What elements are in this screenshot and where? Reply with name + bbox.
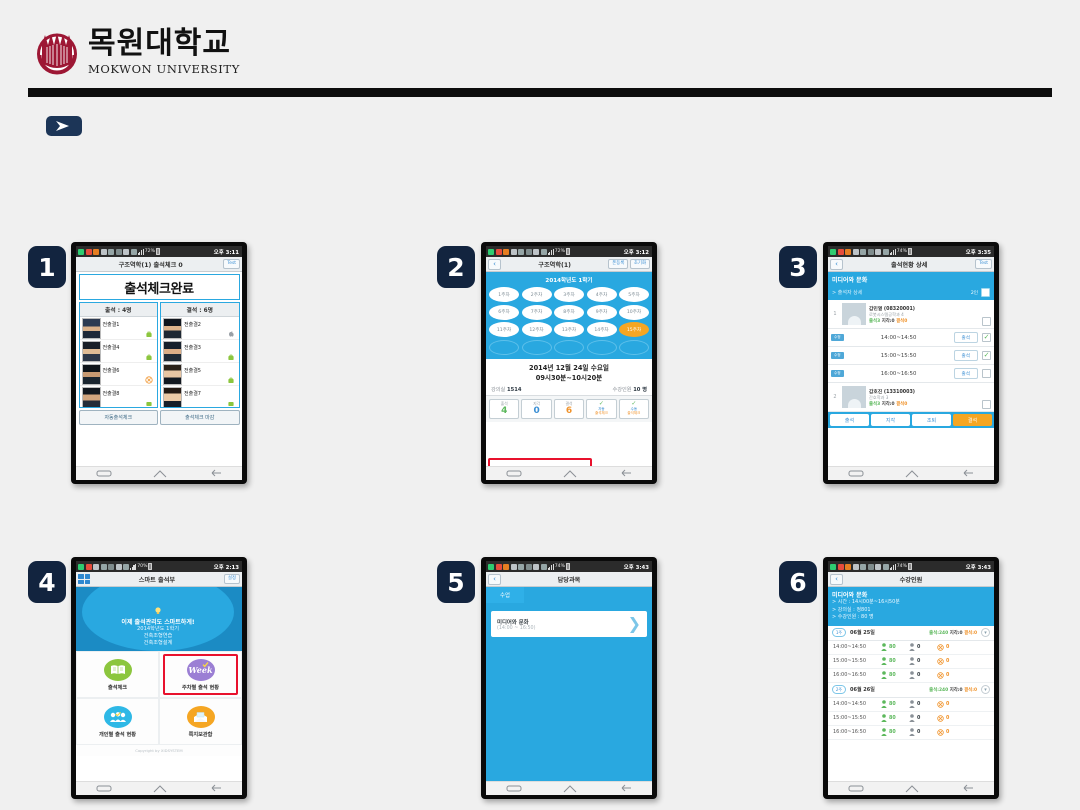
week-chip-empty (489, 340, 519, 355)
avatar (163, 341, 182, 362)
person-late-icon (909, 671, 915, 679)
student-row[interactable]: 전출결5 (161, 363, 239, 386)
present-cell: 80 (881, 700, 909, 708)
clock: 오후 3:43 (624, 563, 650, 571)
week-summary: 출석:240 지각:0 결석:0 (929, 630, 977, 636)
cancel-icon (145, 376, 153, 384)
arrow-right-icon (46, 116, 82, 136)
settings-button[interactable]: 설정 (224, 574, 240, 583)
logo-korean-name: 목원대학교 (88, 28, 240, 60)
android-icon (145, 330, 153, 338)
phone6-body: 미디어와 문화 > 시간 : 14시00분~16시50분 > 강의실 : 정80… (828, 587, 994, 781)
student-checkbox[interactable] (982, 317, 991, 326)
battery-percent: 74% (555, 564, 565, 569)
stat-value: 6 (555, 407, 583, 417)
title-bar: 구조역학(1) 출석체크 0 Test (76, 257, 242, 272)
manual-check-button[interactable]: ✓ 수동 출석체크 (619, 399, 649, 420)
apple-icon (227, 330, 235, 338)
status-icons (830, 564, 889, 570)
attendance-slot-row[interactable]: 수정 14:00~14:50 출석 ✓ (828, 329, 994, 347)
title-bar: ‹ 출석현황 상세 Test (828, 257, 994, 272)
battery-percent: 70% (137, 564, 147, 569)
phone-screenshot-6: 74% 오후 3:43 ‹ 수강인원 미디어와 문화 > 시간 : 14시00분… (823, 557, 999, 799)
course-enroll-info: > 수강인원 : 80 명 (832, 614, 990, 622)
mark-absent-button[interactable]: 결석 (953, 414, 992, 426)
clock: 오후 3:12 (624, 248, 650, 256)
select-all-checkbox[interactable] (981, 288, 990, 297)
slot-row: 14:00~14:50 80 0 0 (828, 641, 994, 655)
step-badge-3: 3 (779, 246, 817, 288)
slot-time: 16:00~16:50 (833, 672, 881, 678)
semester-label: 2014학년도 1학기 (486, 274, 652, 287)
week-summary: 출석:240 지각:0 결석:0 (929, 687, 977, 693)
student-index: 1 (831, 311, 839, 317)
chevron-down-icon[interactable]: ▾ (981, 628, 990, 637)
week-date: 06월 25일 (850, 629, 875, 636)
signal-icon (890, 248, 896, 255)
title-bar: 스마트 출석부 설정 (76, 572, 242, 587)
test-button[interactable]: Test (975, 259, 992, 268)
signal-icon (890, 563, 896, 570)
recents-icon[interactable] (96, 784, 112, 793)
chevron-down-icon[interactable]: ▾ (981, 685, 990, 694)
avatar (82, 387, 101, 408)
week-chip[interactable]: 12주차 (522, 322, 552, 337)
week-chip[interactable]: 14주차 (587, 322, 617, 337)
student-name: 전출결2 (184, 318, 201, 328)
week-chip-empty (554, 340, 584, 355)
signal-icon (548, 563, 554, 570)
enroll-value: 10 명 (633, 387, 647, 393)
android-icon (227, 353, 235, 361)
attendance-slot-row[interactable]: 수정 16:00~16:50 출석 (828, 365, 994, 383)
enroll-label: 수강인원 10 명 (612, 386, 647, 393)
home-icon[interactable] (563, 784, 577, 793)
student-name: 전출결5 (184, 364, 201, 374)
chevron-right-icon[interactable]: ❯ (628, 616, 641, 632)
stat-late[interactable]: 지각 0 (521, 399, 551, 420)
slot-status[interactable]: 출석 (954, 368, 978, 379)
clock: 오후 3:43 (966, 563, 992, 571)
student-name: 전출결3 (184, 341, 201, 351)
mark-late-button[interactable]: 지각 (871, 414, 910, 426)
clock: 오후 3:11 (214, 248, 240, 256)
section-header: > 출석자 상세 2인 (828, 286, 994, 300)
register-phone-button[interactable]: 폰등록 (608, 259, 628, 268)
android-icon (145, 399, 153, 407)
reset-button[interactable]: 초기화 (630, 259, 650, 268)
person-present-icon (881, 728, 887, 736)
phone1-body: 출석체크완료 출석 : 4명 전출결1 (76, 272, 242, 466)
status-bar: 72% 오후 3:11 (76, 246, 242, 257)
week-chip[interactable]: 10주차 (619, 305, 649, 320)
phone-screenshot-2: 72% 오후 3:12 ‹ 구조역학(1) 폰등록 초기화 2014학년도 1학… (481, 242, 657, 484)
student-row[interactable]: 전출결8 (80, 386, 158, 408)
back-icon[interactable] (960, 469, 974, 478)
menu-item-mailbox[interactable]: 쪽지보관함 (159, 698, 242, 745)
present-column: 출석 : 4명 전출결1 전출결4 (79, 302, 159, 408)
step-badge-5: 5 (437, 561, 475, 603)
late-cell: 0 (909, 671, 937, 679)
android-icon (227, 399, 235, 407)
present-cell: 80 (881, 657, 909, 665)
edit-tag[interactable]: 수정 (831, 352, 844, 359)
week-chip[interactable]: 1주차 (489, 287, 519, 302)
recents-icon[interactable] (848, 784, 864, 793)
student-index: 2 (831, 394, 839, 400)
absent-header: 결석 : 6명 (161, 303, 239, 317)
week-chip[interactable]: 2주차 (522, 287, 552, 302)
edit-tag[interactable]: 수정 (831, 334, 844, 341)
phone3-body: 미디어와 문화 > 출석자 상세 2인 1 갑민열 (08320001) 로 (828, 272, 994, 466)
copyright-text: Copyright by XIDSYSTEM (76, 745, 242, 756)
university-logo: 목원대학교 MOKWON UNIVERSITY (36, 28, 240, 76)
step-badge-6: 6 (779, 561, 817, 603)
week-number: 1주 (832, 628, 846, 637)
people-icon (104, 706, 132, 728)
class-date: 2014년 12월 24일 수요일 (486, 362, 652, 372)
battery-icon (566, 248, 570, 255)
menu-label: 주차별 출석 현황 (182, 684, 219, 691)
late-cell: 0 (909, 700, 937, 708)
auto-check-button[interactable]: ✓ 자동 출석체크 (586, 399, 616, 420)
phone1-footer-buttons: 자동출석체크 출석체크 마감 (76, 408, 242, 427)
week-chip[interactable]: 6주차 (489, 305, 519, 320)
phone-screenshot-4: 70% 오후 2:13 스마트 출석부 설정 이제 출석관리도 스마트하게! 2… (71, 557, 247, 799)
week-chip[interactable]: 4주차 (587, 287, 617, 302)
back-button[interactable]: ‹ (830, 259, 843, 270)
week-chip[interactable]: 8주차 (554, 305, 584, 320)
back-icon[interactable] (618, 784, 632, 793)
phone-screenshot-5: 74% 오후 3:43 ‹ 담당과목 수업 미디어와 문화 (14:00 ~ 1… (481, 557, 657, 799)
status-icons (488, 249, 547, 255)
student-row[interactable]: 전출결6 (80, 363, 158, 386)
battery-percent: 74% (897, 564, 907, 569)
week-chip[interactable]: 9주차 (587, 305, 617, 320)
student-name: 전출결6 (103, 364, 120, 374)
status-icons (78, 564, 129, 570)
week-chip[interactable]: 13주차 (554, 322, 584, 337)
phone5-body: 수업 미디어와 문화 (14:00 ~ 16:50) ❯ (486, 587, 652, 781)
mailbox-icon (187, 706, 215, 728)
mokwon-crest-icon (36, 29, 78, 75)
status-bar: 70% 오후 2:13 (76, 561, 242, 572)
person-late-icon (909, 657, 915, 665)
present-cell: 80 (881, 728, 909, 736)
signal-icon (130, 563, 136, 570)
back-button[interactable]: ‹ (830, 574, 843, 585)
avatar (82, 364, 101, 385)
room-label: 강의실 1514 (491, 386, 521, 393)
student-name: 갑민열 (08320001) (869, 305, 915, 312)
recents-icon[interactable] (506, 469, 522, 478)
person-present-icon (881, 671, 887, 679)
late-cell: 0 (909, 728, 937, 736)
course-title: 미디어와 문화 (497, 618, 535, 626)
slot-time: 15:00~15:50 (833, 658, 881, 664)
week-date: 06월 26일 (850, 686, 875, 693)
week-chip-selected[interactable]: 15주차 (619, 322, 649, 337)
slot-checkbox-checked[interactable]: ✓ (982, 351, 991, 360)
status-bar: 74% 오후 3:43 (486, 561, 652, 572)
menu-item-individual-status[interactable]: 개인별 출석 현황 (76, 698, 159, 745)
present-header: 출석 : 4명 (80, 303, 158, 317)
menu-item-weekly-status[interactable]: Week 주차별 출석 현황 (159, 651, 242, 698)
android-nav-bar (486, 466, 652, 480)
student-name: 전출결7 (184, 387, 201, 397)
absent-cell: 0 (937, 701, 965, 708)
back-button[interactable]: ‹ (488, 259, 501, 270)
week-chip[interactable]: 3주차 (554, 287, 584, 302)
student-info: 갑호진 (13310003) 간호학과 3 출석3 지각:0 결석0 (869, 388, 915, 407)
course-name: 미디어와 문화 (828, 272, 994, 286)
page-title: 구조역학(1) (501, 260, 608, 269)
page-title: 출석현황 상세 (843, 260, 975, 269)
status-icons (488, 564, 547, 570)
week-summary-row[interactable]: 2주 06월 26일 출석:240 지각:0 결석:0 ▾ (828, 683, 994, 698)
student-row[interactable]: 전출결3 (161, 340, 239, 363)
android-nav-bar (828, 466, 994, 480)
back-icon[interactable] (618, 469, 632, 478)
check-icon (202, 661, 209, 668)
student-row[interactable]: 전출결7 (161, 386, 239, 408)
slot-row: 16:00~16:50 80 0 0 (828, 669, 994, 683)
absent-cell: 0 (937, 729, 965, 736)
signal-icon (138, 248, 144, 255)
battery-icon (148, 563, 152, 570)
avatar (82, 318, 101, 339)
recents-icon[interactable] (96, 469, 112, 478)
avatar (163, 364, 182, 385)
week-chip-empty (587, 340, 617, 355)
course-time-info: > 시간 : 14시00분~16시50분 (832, 599, 990, 607)
course-title: 미디어와 문화 (832, 590, 990, 599)
section-count: 2인 (971, 290, 978, 296)
week-selector-panel: 2014학년도 1학기 1주차 2주차 3주차 4주차 5주차 6주차 7주차 … (486, 272, 652, 359)
back-icon[interactable] (208, 784, 222, 793)
back-icon[interactable] (208, 469, 222, 478)
avatar (163, 387, 182, 408)
clock: 오후 2:13 (214, 563, 240, 571)
week-number: 2주 (832, 685, 846, 694)
page-header: 목원대학교 MOKWON UNIVERSITY (0, 0, 1080, 88)
battery-percent: 72% (145, 249, 155, 254)
attendance-slot-row[interactable]: 수정 15:00~15:50 출석 ✓ (828, 347, 994, 365)
completion-banner: 출석체크완료 (79, 274, 240, 300)
student-name: 갑호진 (13310003) (869, 388, 915, 395)
course-card-text: 미디어와 문화 (14:00 ~ 16:50) (497, 618, 535, 631)
avatar-placeholder-icon (842, 303, 866, 325)
hero-line2: 건축조형연습 (144, 633, 173, 640)
slot-row: 15:00~15:50 80 0 0 (828, 712, 994, 726)
absent-circle-icon (937, 672, 944, 679)
menu-item-attendance-check[interactable]: 출석체크 (76, 651, 159, 698)
home-icon[interactable] (905, 784, 919, 793)
absent-cell: 0 (937, 672, 965, 679)
late-cell: 0 (909, 657, 937, 665)
test-button[interactable]: Test (223, 259, 240, 268)
stat-present[interactable]: 출석 4 (489, 399, 519, 420)
stat-value: 4 (490, 407, 518, 417)
phone-screenshot-1: 72% 오후 3:11 구조역학(1) 출석체크 0 Test 출석체크완료 출… (71, 242, 247, 484)
late-cell: 0 (909, 643, 937, 651)
absent-cell: 0 (937, 658, 965, 665)
logo-english-name: MOKWON UNIVERSITY (88, 62, 240, 76)
class-meta: 강의실 1514 수강인원 10 명 (486, 384, 652, 396)
course-info-panel: 미디어와 문화 > 시간 : 14시00분~16시50분 > 강의실 : 정80… (828, 587, 994, 626)
hero-banner: 이제 출석관리도 스마트하게! 2014학년도 1학기 건축조형연습 건축조형설… (76, 587, 242, 651)
absent-cell: 0 (937, 715, 965, 722)
present-cell: 80 (881, 671, 909, 679)
avatar-placeholder-icon (842, 386, 866, 408)
student-stats: 출석3 지각:0 결석0 (869, 401, 915, 407)
class-date-block: 2014년 12월 24일 수요일 09시30분~10시20분 (486, 359, 652, 384)
slot-checkbox-checked[interactable]: ✓ (982, 333, 991, 342)
avatar (163, 318, 182, 339)
status-bar: 74% 오후 3:43 (828, 561, 994, 572)
completion-text: 출석체크완료 (124, 278, 193, 297)
status-icons (830, 249, 889, 255)
student-info: 갑민열 (08320001) 로봇시스템공학과 4 출석3 지각:0 결석0 (869, 305, 915, 324)
slot-time: 14:00~14:50 (833, 644, 881, 650)
android-icon (227, 376, 235, 384)
absent-circle-icon (937, 701, 944, 708)
slot-status[interactable]: 출석 (954, 350, 978, 361)
person-present-icon (881, 643, 887, 651)
person-late-icon (909, 728, 915, 736)
student-header-row[interactable]: 1 갑민열 (08320001) 로봇시스템공학과 4 출석3 지각:0 결석0 (828, 300, 994, 329)
home-icon[interactable] (905, 469, 919, 478)
home-icon[interactable] (153, 784, 167, 793)
battery-icon (908, 248, 912, 255)
title-bar: ‹ 수강인원 (828, 572, 994, 587)
tab-classes[interactable]: 수업 (486, 587, 524, 603)
recents-icon[interactable] (848, 469, 864, 478)
present-cell: 80 (881, 643, 909, 651)
slot-time: 14:00~14:50 (848, 335, 950, 341)
android-nav-bar (486, 781, 652, 795)
slot-time: 15:00~15:50 (833, 715, 881, 721)
student-checkbox[interactable] (982, 400, 991, 409)
lightbulb-icon (153, 606, 163, 616)
hero-line1: 2014학년도 1학기 (137, 626, 179, 633)
header-divider (28, 88, 1052, 97)
edit-tag[interactable]: 수정 (831, 370, 844, 377)
student-header-row[interactable]: 2 갑호진 (13310003) 간호학과 3 출석3 지각:0 결석0 (828, 383, 994, 412)
status-bar: 72% 오후 3:12 (486, 246, 652, 257)
absent-circle-icon (937, 715, 944, 722)
stat-absent[interactable]: 결석 6 (554, 399, 584, 420)
status-icons (78, 249, 137, 255)
absent-circle-icon (937, 729, 944, 736)
page-title: 담당과목 (501, 575, 637, 584)
course-room-info: > 강의실 : 정801 (832, 607, 990, 615)
slot-row: 15:00~15:50 80 0 0 (828, 655, 994, 669)
week-chip[interactable]: 7주차 (522, 305, 552, 320)
section-label: > 출석자 상세 (832, 289, 862, 296)
slot-row: 14:00~14:50 80 0 0 (828, 698, 994, 712)
battery-icon (566, 563, 570, 570)
person-present-icon (881, 714, 887, 722)
battery-percent: 72% (555, 249, 565, 254)
slot-row: 16:00~16:50 80 0 0 (828, 726, 994, 740)
student-name: 전출결8 (103, 387, 120, 397)
grid-menu-icon[interactable] (78, 574, 90, 584)
hero-ellipse: 이제 출석관리도 스마트하게! 2014학년도 1학기 건축조형연습 건축조형설… (82, 587, 234, 651)
close-attendance-button[interactable]: 출석체크 마감 (160, 410, 240, 425)
course-card[interactable]: 미디어와 문화 (14:00 ~ 16:50) ❯ (491, 611, 647, 637)
battery-icon (908, 563, 912, 570)
page-title: 스마트 출석부 (90, 575, 224, 584)
mark-present-button[interactable]: 출석 (830, 414, 869, 426)
auto-attendance-button[interactable]: 자동출석체크 (79, 410, 159, 425)
person-present-icon (881, 657, 887, 665)
book-icon (104, 659, 132, 681)
highlight-box-stats (488, 458, 592, 466)
slot-time: 16:00~16:50 (848, 371, 950, 377)
person-present-icon (881, 700, 887, 708)
back-icon[interactable] (960, 784, 974, 793)
week-chip[interactable]: 11주차 (489, 322, 519, 337)
week-chip-empty (619, 340, 649, 355)
home-icon[interactable] (563, 469, 577, 478)
week-chip[interactable]: 5주차 (619, 287, 649, 302)
mark-earlyleave-button[interactable]: 조퇴 (912, 414, 951, 426)
student-name: 전출결1 (103, 318, 120, 328)
slot-time: 16:00~16:50 (833, 729, 881, 735)
android-nav-bar (76, 466, 242, 480)
week-icon: Week (187, 659, 215, 681)
class-time: 09시30분~10시20분 (486, 372, 652, 382)
slot-checkbox[interactable] (982, 369, 991, 378)
android-icon (145, 353, 153, 361)
tab-bar: 수업 (486, 587, 652, 603)
battery-icon (156, 248, 160, 255)
hero-line3: 건축조형설계 (144, 640, 173, 647)
room-value: 1514 (507, 387, 521, 393)
stat-value: 0 (522, 407, 550, 417)
step-badge-2: 2 (437, 246, 475, 288)
student-detail-list: 1 갑민열 (08320001) 로봇시스템공학과 4 출석3 지각:0 결석0 (828, 300, 994, 412)
student-row[interactable]: 전출결4 (80, 340, 158, 363)
slot-status[interactable]: 출석 (954, 332, 978, 343)
slot-time: 15:00~15:50 (848, 353, 950, 359)
back-button[interactable]: ‹ (488, 574, 501, 585)
week-summary-row[interactable]: 1주 06월 25일 출석:240 지각:0 결석:0 ▾ (828, 626, 994, 641)
main-menu-grid: 출석체크 Week 주차별 출석 현황 개인별 (76, 651, 242, 745)
battery-percent: 74% (897, 249, 907, 254)
student-row[interactable]: 전출결2 (161, 317, 239, 340)
absent-cell: 0 (937, 644, 965, 651)
hero-headline: 이제 출석관리도 스마트하게! (121, 617, 194, 626)
recents-icon[interactable] (506, 784, 522, 793)
home-icon[interactable] (153, 469, 167, 478)
step-badge-1: 1 (28, 246, 66, 288)
status-bar: 74% 오후 3:35 (828, 246, 994, 257)
menu-label: 개인별 출석 현황 (99, 731, 136, 738)
absent-circle-icon (937, 658, 944, 665)
student-row[interactable]: 전출결1 (80, 317, 158, 340)
title-bar: ‹ 구조역학(1) 폰등록 초기화 (486, 257, 652, 272)
student-stats: 출석3 지각:0 결석0 (869, 318, 915, 324)
poster-page: 목원대학교 MOKWON UNIVERSITY 1 72% 오후 3:11 (0, 0, 1080, 810)
person-late-icon (909, 643, 915, 651)
phone-screenshot-3: 74% 오후 3:35 ‹ 출석현황 상세 Test 미디어와 문화 > 출석자… (823, 242, 999, 484)
present-cell: 80 (881, 714, 909, 722)
menu-label: 쪽지보관함 (189, 731, 213, 738)
status-action-bar: 출석 지각 조퇴 결석 (828, 412, 994, 428)
avatar (82, 341, 101, 362)
